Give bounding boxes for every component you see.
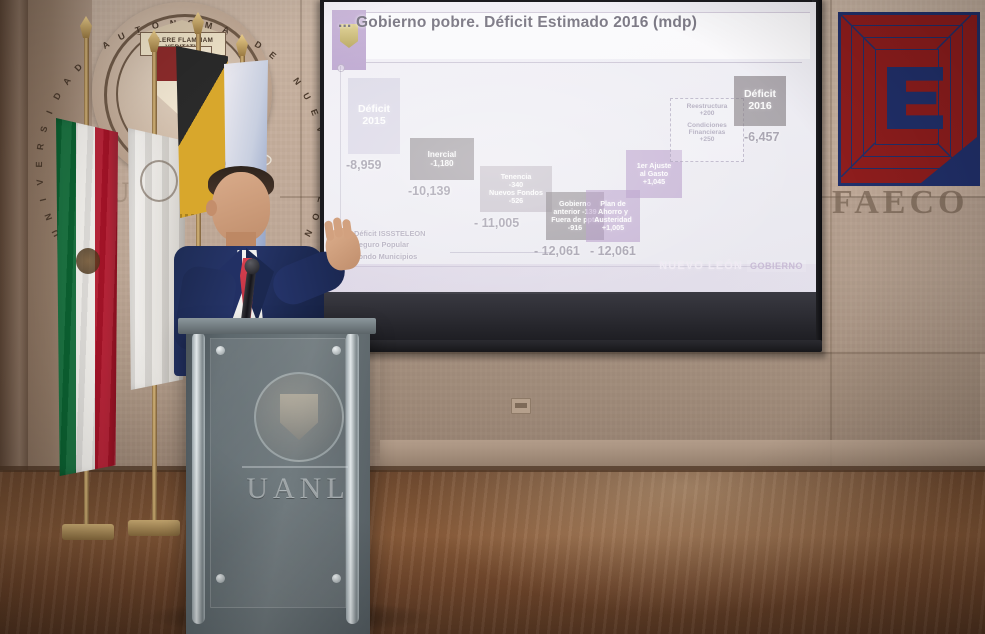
axis-origin-marker <box>337 64 345 72</box>
seal-ring-letter: D <box>253 39 264 51</box>
podium-underline <box>242 466 348 468</box>
bar-tenencia-nuevos-fondos: Tenencia -340 Nuevos Fondos -526 <box>480 166 552 212</box>
nuevo-leon-logo: NUEVO LEÓN GOBIERNO <box>659 260 806 272</box>
bar-label: -1,180 <box>430 159 453 168</box>
bar-label: Inercial <box>428 150 457 159</box>
wall-column <box>0 0 28 470</box>
presentation-slide: ... Gobierno pobre. Déficit Estimado 201… <box>324 2 816 292</box>
seal-ring-letter: U <box>116 31 126 43</box>
annotation-connector <box>450 252 550 253</box>
bar-label: 2015 <box>362 116 385 128</box>
value-after-tenencia: - 11,005 <box>474 216 519 230</box>
value-after-plan-ahorro: - 12,061 <box>590 244 636 258</box>
bar-deficit-2016: Déficit 2016 <box>734 76 786 126</box>
callout-line-1: Reestructura <box>671 103 743 110</box>
bar-deficit-2015: Déficit 2015 <box>348 78 400 154</box>
seal-ring-letter: E <box>34 161 44 167</box>
callout-line-5: +250 <box>671 136 743 143</box>
podium-bolt <box>332 574 341 583</box>
faeco-label: FAECO <box>832 184 968 222</box>
podium-bolt <box>216 574 225 583</box>
podium-top-surface <box>178 318 376 334</box>
flag-base <box>62 524 114 540</box>
flag-folds <box>56 118 118 476</box>
mexican-flag <box>56 118 118 476</box>
podium-uanl-label: UANL <box>242 472 354 506</box>
value-after-issysteleon: - 12,061 <box>534 244 580 258</box>
floor-light-glow <box>430 470 985 634</box>
floor-wall-edge <box>0 466 985 472</box>
seal-motto-line-1: ALERE FLAMMAM <box>153 37 213 44</box>
bar-label: -526 <box>509 197 523 205</box>
bar-label: +1,005 <box>602 224 624 232</box>
screen-roller-bar <box>318 340 822 352</box>
callout-reestructura: Reestructura +200 Condiciones Financiera… <box>670 98 744 162</box>
callout-line-2: +200 <box>671 110 743 117</box>
nuevo-leon-wordmark: NUEVO LEÓN <box>659 260 743 272</box>
callout-line-3: Condiciones <box>671 122 743 129</box>
podium-bolt <box>216 346 225 355</box>
slide-title-rule <box>366 62 802 63</box>
seal-ring-letter: A <box>100 39 111 51</box>
flag-base <box>128 520 180 536</box>
bar-label: 2016 <box>748 101 771 113</box>
seal-ring-letter: V <box>35 179 46 186</box>
faeco-logo-icon <box>838 12 980 186</box>
bar-inercial: Inercial -1,180 <box>410 138 474 180</box>
slide-bottom-band <box>324 292 816 342</box>
value-deficit-2016: -6,457 <box>744 130 779 144</box>
mexican-coat-of-arms-icon <box>76 248 100 274</box>
slide-title: ... Gobierno pobre. Déficit Estimado 201… <box>338 14 697 32</box>
bar-label: +1,045 <box>643 178 665 186</box>
podium: UANL <box>186 324 370 634</box>
bar-label: -916 <box>568 224 582 232</box>
faeco-e-glyph <box>887 67 943 129</box>
gobierno-wordmark: GOBIERNO <box>747 260 806 272</box>
presentation-photo: UNIVERSIDAD AUTONOMA DE NUEVO LEON ALERE… <box>0 0 985 634</box>
waterfall-chart: Déficit 2015 -8,959 Inercial -1,180 -10,… <box>334 64 806 276</box>
wall-lower-panel <box>380 352 980 444</box>
value-after-inercial: -10,139 <box>408 184 450 198</box>
wall-outlet <box>511 398 531 414</box>
podium-university-seal <box>254 372 344 462</box>
podium-rail-left <box>192 332 205 624</box>
speaker-ear <box>206 200 217 216</box>
podium-bolt <box>332 346 341 355</box>
podium-seal-shield <box>280 394 318 440</box>
callout-line-4: Financieras <box>671 129 743 136</box>
projection-screen: ... Gobierno pobre. Déficit Estimado 201… <box>324 2 816 342</box>
seal-ring-letter: R <box>35 143 46 151</box>
